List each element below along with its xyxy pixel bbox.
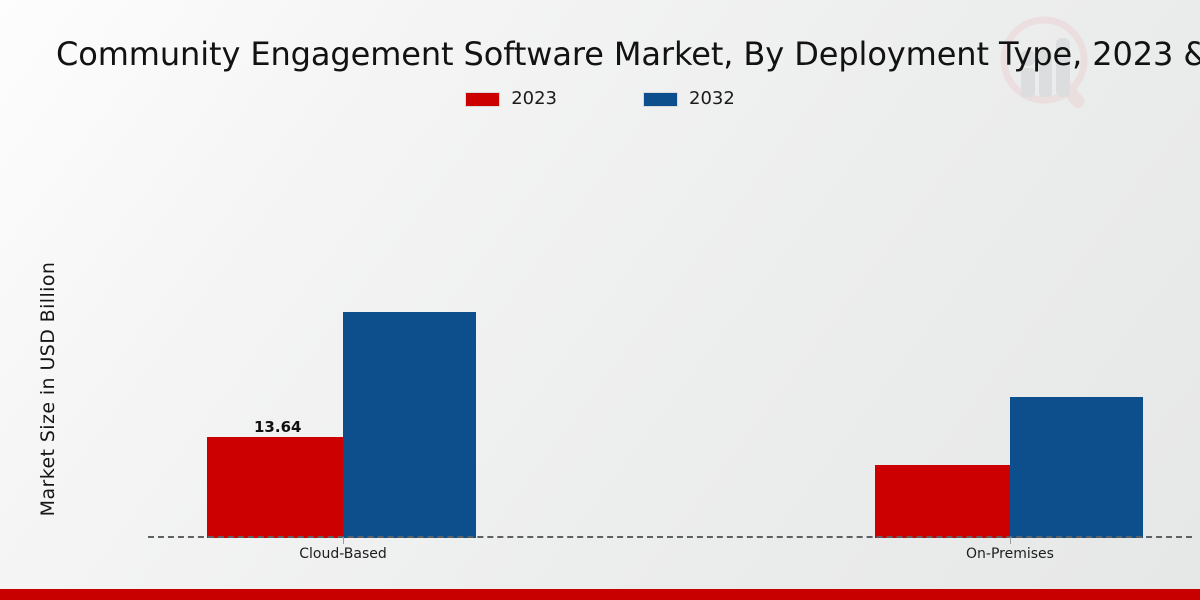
legend-label-2032: 2032 [689,90,735,108]
bar-cloud-based-2032[interactable] [343,312,476,538]
bar-on-premises-2023[interactable] [875,465,1010,538]
bar-on-premises-2032[interactable] [1010,397,1143,538]
legend-item-2032[interactable]: 2032 [643,90,735,108]
x-axis-baseline [148,536,1192,538]
chart-figure: Community Engagement Software Market, By… [0,0,1200,600]
x-axis-label-cloud-based: Cloud-Based [299,546,387,562]
legend-swatch-2023 [465,92,500,107]
legend-label-2023: 2023 [511,90,557,108]
plot-area [148,140,1192,538]
y-axis-title: Market Size in USD Billion [37,239,59,539]
chart-legend: 2023 2032 [0,90,1200,108]
page-title: Community Engagement Software Market, By… [56,33,1200,75]
legend-swatch-2032 [643,92,678,107]
x-axis-label-on-premises: On-Premises [966,546,1054,562]
bar-value-label-cloud-based-2023: 13.64 [254,418,301,436]
bar-cloud-based-2023[interactable] [207,437,343,538]
x-tick-cloud-based [343,537,344,544]
legend-item-2023[interactable]: 2023 [465,90,557,108]
x-tick-on-premises [1010,537,1011,544]
footer-accent-stripe [0,589,1200,600]
